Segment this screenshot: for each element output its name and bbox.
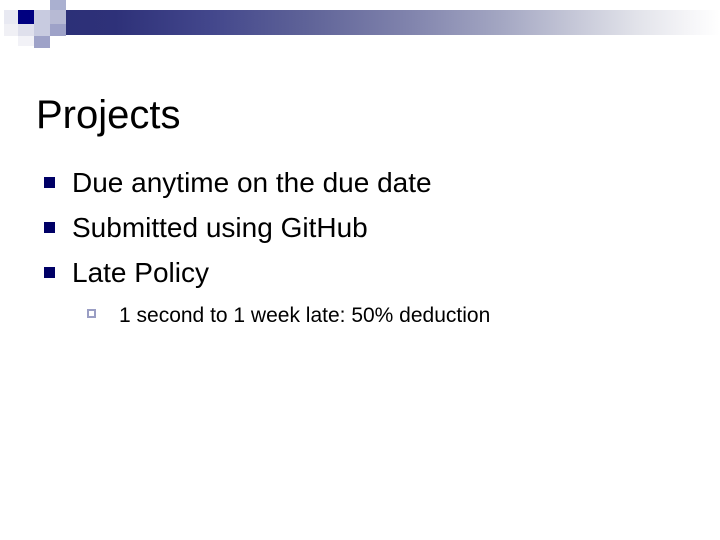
bullet-text: Due anytime on the due date [72, 167, 432, 198]
filled-square-bullet-icon [44, 177, 55, 188]
square-periwinkle-top [50, 0, 66, 10]
bullet-item: Due anytime on the due date [36, 160, 686, 205]
square-lavender-c [34, 24, 50, 36]
sub-bullet-item: 1 second to 1 week late: 50% deduction [36, 297, 686, 335]
bullet-item: Submitted using GitHub [36, 205, 686, 250]
square-pale-lower [18, 24, 34, 36]
square-pale-left [4, 10, 18, 24]
presentation-slide: Projects Due anytime on the due date Sub… [0, 0, 720, 540]
square-navy-top [18, 10, 34, 24]
hollow-square-bullet-icon [87, 309, 96, 318]
bullet-text: Submitted using GitHub [72, 212, 368, 243]
filled-square-bullet-icon [44, 222, 55, 233]
square-lavender-b [50, 10, 66, 24]
square-lavender-a [34, 10, 50, 24]
square-periwinkle-bottom [34, 36, 50, 48]
slide-header-decoration [0, 0, 720, 52]
slide-title: Projects [36, 90, 684, 140]
bullet-text: Late Policy [72, 257, 209, 288]
bullet-item: Late Policy [36, 250, 686, 295]
square-periwinkle-mid [50, 24, 66, 36]
gradient-bar [33, 10, 720, 35]
slide-body: Due anytime on the due date Submitted us… [36, 160, 686, 335]
filled-square-bullet-icon [44, 267, 55, 278]
square-pale-bottom [18, 36, 34, 46]
square-pale-edge [4, 24, 18, 36]
sub-bullet-text: 1 second to 1 week late: 50% deduction [119, 304, 490, 327]
